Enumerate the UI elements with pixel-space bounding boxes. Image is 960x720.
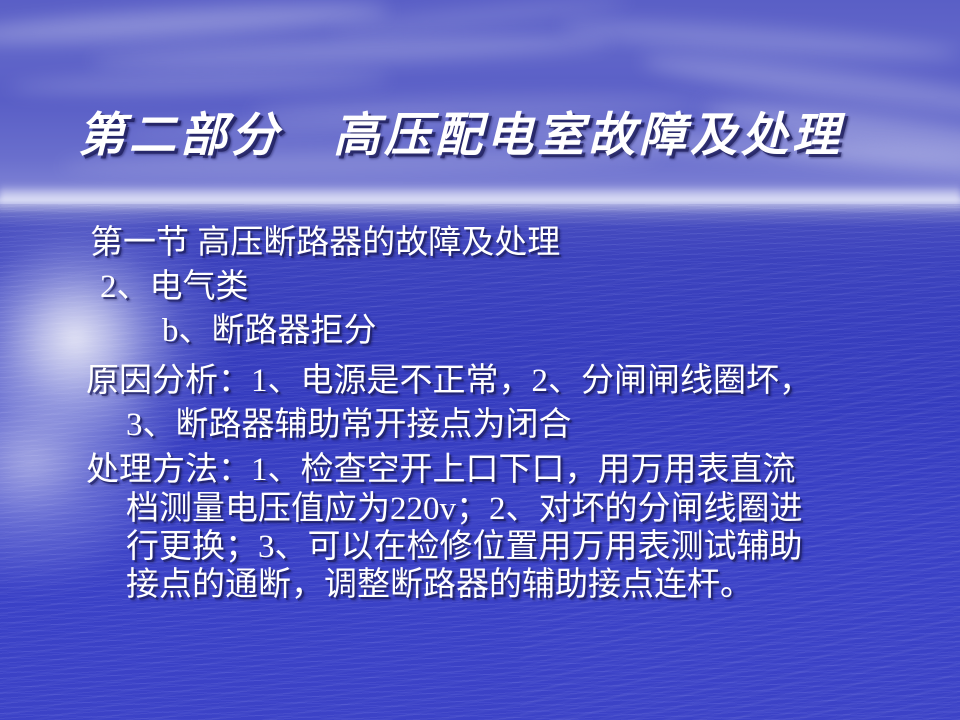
presentation-slide: 第二部分 高压配电室故障及处理 第一节 高压断路器的故障及处理 2、电气类 b、… (0, 0, 960, 720)
cloud-wisp (560, 14, 960, 66)
body-line-section: 第一节 高压断路器的故障及处理 (86, 222, 952, 266)
horizon-haze-band (0, 183, 960, 213)
treatment-line-3: 行更换；3、可以在检修位置用万用表测试辅助 (86, 528, 952, 566)
paragraph-cause: 原因分析：1、电源是不正常，2、分闸闸线圈坏， 3、断路器辅助常开接点为闭合 (86, 360, 952, 448)
slide-title: 第二部分 高压配电室故障及处理 (78, 96, 878, 165)
cloud-wisp (10, 69, 390, 97)
body-line-item-category: 2、电气类 (86, 266, 952, 310)
treatment-line-4: 接点的通断，调整断路器的辅助接点连杆。 (86, 566, 952, 604)
cloud-wisp (330, 0, 630, 40)
cause-line-1: 原因分析：1、电源是不正常，2、分闸闸线圈坏， (86, 360, 952, 404)
cloud-wisp (0, 0, 390, 49)
body-line-item-sub: b、断路器拒分 (86, 310, 952, 354)
cloud-wisp (90, 32, 610, 72)
cause-line-2: 3、断路器辅助常开接点为闭合 (86, 404, 952, 448)
treatment-line-2: 档测量电压值应为220v；2、对坏的分闸线圈进 (86, 490, 952, 528)
slide-body: 第一节 高压断路器的故障及处理 2、电气类 b、断路器拒分 原因分析：1、电源是… (86, 222, 952, 604)
paragraph-treatment: 处理方法：1、检查空开上口下口，用万用表直流 档测量电压值应为220v；2、对坏… (86, 451, 952, 604)
treatment-line-1: 处理方法：1、检查空开上口下口，用万用表直流 (86, 451, 952, 489)
